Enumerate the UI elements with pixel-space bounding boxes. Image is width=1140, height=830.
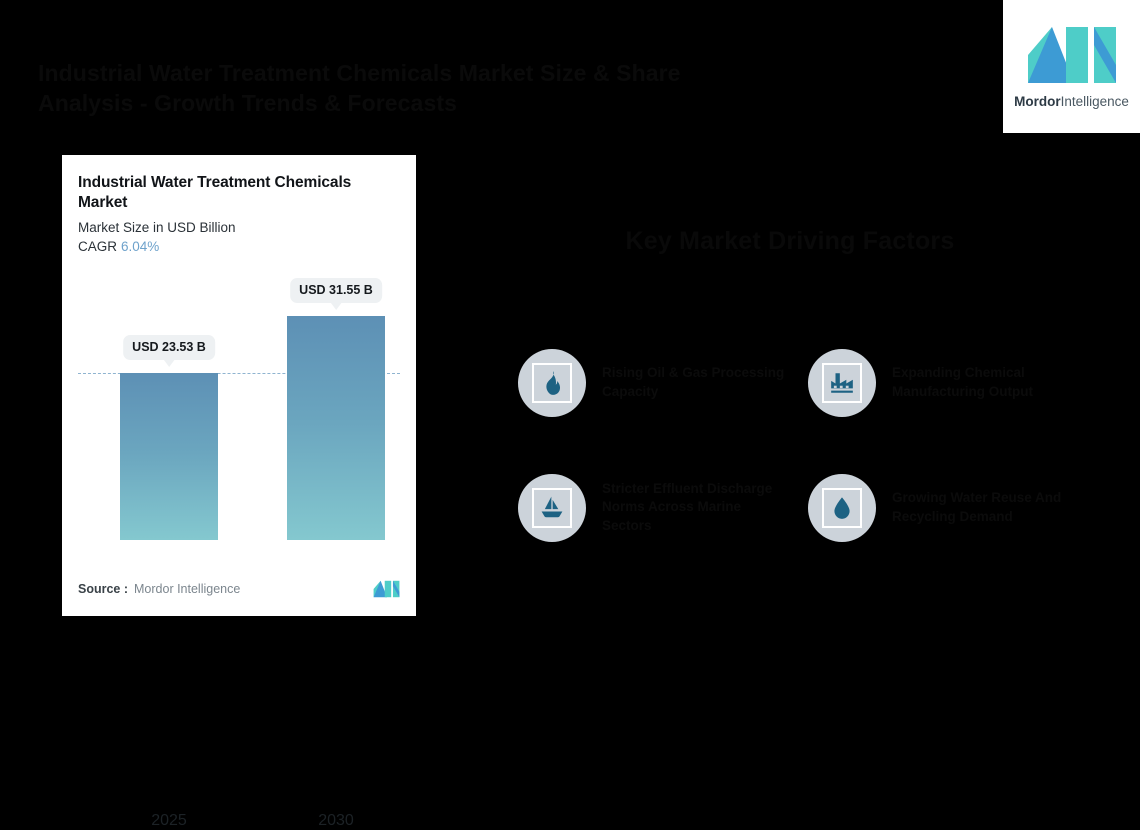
key-factors-grid: Rising Oil & Gas Processing Capacity Exp…	[518, 320, 1098, 570]
bar-category-2025: 2025	[120, 812, 218, 830]
brand-logo-card: MordorIntelligence	[1003, 0, 1140, 133]
chart-subtitle: Market Size in USD Billion	[78, 220, 400, 235]
factory-icon	[822, 363, 862, 403]
feature-label: Growing Water Reuse And Recycling Demand	[892, 489, 1082, 526]
source-label: Source :	[78, 582, 128, 596]
feature-icon-circle	[518, 349, 586, 417]
feature-icon-circle	[808, 474, 876, 542]
feature-item: Rising Oil & Gas Processing Capacity	[518, 320, 808, 445]
page-title-line-1: Industrial Water Treatment Chemicals Mar…	[38, 58, 938, 88]
bar-2030	[287, 316, 385, 540]
chart-cagr-row: CAGR6.04%	[78, 239, 400, 254]
feature-item: Growing Water Reuse And Recycling Demand	[808, 445, 1098, 570]
bar-chart-plot: USD 23.53 B 2025 USD 31.55 B 2030	[78, 278, 400, 540]
chart-cagr-value: 6.04%	[121, 239, 159, 254]
brand-name-light: Intelligence	[1061, 94, 1129, 109]
feature-item: Stricter Effluent Discharge Norms Across…	[518, 445, 808, 570]
chart-title: Industrial Water Treatment Chemicals Mar…	[78, 173, 400, 213]
bar-value-badge-2025: USD 23.53 B	[123, 335, 215, 360]
feature-item: Expanding Chemical Manufacturing Output	[808, 320, 1098, 445]
mordor-logo-icon	[1026, 25, 1118, 85]
brand-name-bold: Mordor	[1014, 94, 1061, 109]
chart-source-row: Source : Mordor Intelligence	[78, 580, 400, 598]
feature-icon-circle	[808, 349, 876, 417]
water-drop-icon	[822, 488, 862, 528]
bar-2025	[120, 373, 218, 540]
bar-category-2030: 2030	[287, 812, 385, 830]
key-factors-panel: Key Market Driving Factors Rising Oil & …	[470, 210, 1110, 600]
page-title-line-2: Analysis - Growth Trends & Forecasts	[38, 88, 938, 118]
sailboat-icon	[532, 488, 572, 528]
feature-label: Expanding Chemical Manufacturing Output	[892, 364, 1082, 401]
page-title: Industrial Water Treatment Chemicals Mar…	[38, 58, 938, 119]
chart-card: Industrial Water Treatment Chemicals Mar…	[62, 155, 416, 616]
brand-logo-text: MordorIntelligence	[1014, 94, 1129, 109]
feature-icon-circle	[518, 474, 586, 542]
mordor-logo-small-icon	[373, 580, 400, 598]
key-factors-heading: Key Market Driving Factors	[470, 227, 1110, 256]
feature-label: Stricter Effluent Discharge Norms Across…	[602, 480, 792, 536]
feature-label: Rising Oil & Gas Processing Capacity	[602, 364, 792, 401]
chart-cagr-label: CAGR	[78, 239, 117, 254]
flame-icon	[532, 363, 572, 403]
source-value: Mordor Intelligence	[134, 582, 240, 596]
bar-value-badge-2030: USD 31.55 B	[290, 278, 382, 303]
